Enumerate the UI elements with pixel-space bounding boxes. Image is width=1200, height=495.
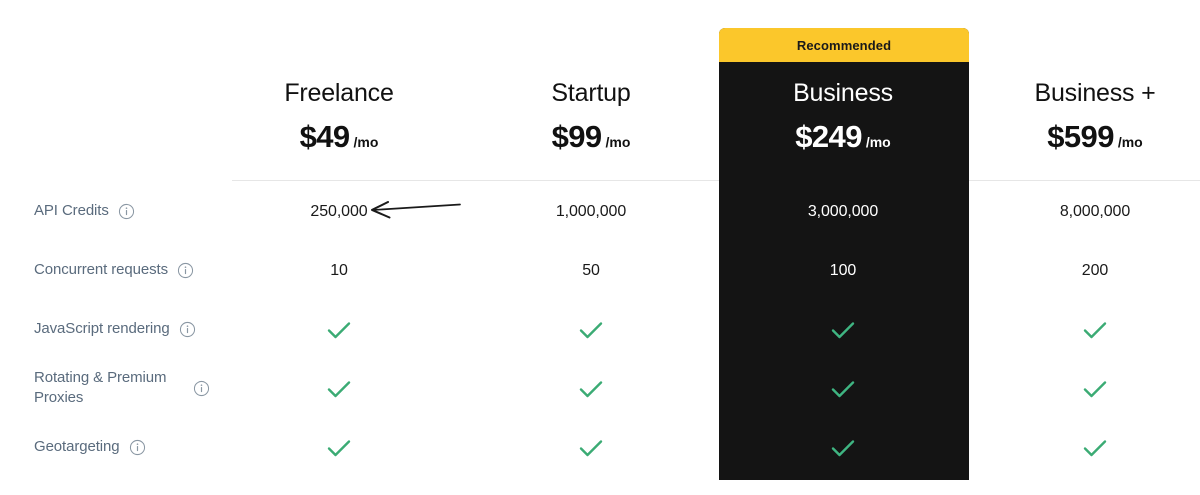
table-cell [728,319,958,346]
table-cell: 3,000,000 [728,201,958,223]
plan-name: Business + [980,78,1200,108]
plan-name: Startup [476,78,706,108]
cell-value: 3,000,000 [808,203,878,220]
cell-value: 10 [330,262,348,279]
check-icon [1081,437,1109,459]
table-cell: 1,000,000 [476,201,706,223]
cell-value: 1,000,000 [556,203,626,220]
table-cell: 10 [224,260,454,282]
check-icon [577,437,605,459]
recommended-badge: Recommended [719,28,969,62]
cell-value: 100 [830,262,856,279]
cell-value: 200 [1082,262,1108,279]
table-cell: 200 [980,260,1200,282]
plan-price: $249 [795,119,862,154]
check-icon [577,378,605,400]
plan-header-startup[interactable]: Startup $99/mo [476,78,706,160]
check-icon [577,319,605,341]
plan-price: $99 [552,119,602,154]
feature-label-rotating-premium-proxies: Rotating & Premium Proxies [34,368,244,408]
feature-label-text: JavaScript rendering [34,319,170,339]
feature-label-text: Concurrent requests [34,260,168,280]
info-icon[interactable] [193,380,210,397]
plan-price-line: $599/mo [980,120,1200,160]
recommended-badge-label: Recommended [797,38,891,53]
cell-value: 250,000 [310,203,367,220]
table-cell [224,378,454,405]
plan-period: /mo [866,134,891,150]
table-cell [476,319,706,346]
check-icon [1081,378,1109,400]
table-cell: 50 [476,260,706,282]
table-cell: 8,000,000 [980,201,1200,223]
table-cell [980,378,1200,405]
feature-label-geotargeting: Geotargeting [34,437,234,457]
table-cell [224,437,454,464]
plan-price-line: $249/mo [728,120,958,160]
plan-period: /mo [606,134,631,150]
table-cell [728,378,958,405]
plan-price-line: $49/mo [224,120,454,160]
table-cell [980,319,1200,346]
plan-period: /mo [1118,134,1143,150]
cell-value: 50 [582,262,600,279]
table-cell [476,378,706,405]
check-icon [1081,319,1109,341]
plan-period: /mo [354,134,379,150]
check-icon [829,378,857,400]
feature-label-text: Geotargeting [34,437,120,457]
plan-price-line: $99/mo [476,120,706,160]
table-cell [476,437,706,464]
check-icon [829,319,857,341]
hand-drawn-arrow-annotation [366,196,462,224]
info-icon[interactable] [179,321,196,338]
plan-header-business[interactable]: Business $249/mo [728,78,958,160]
cell-value: 8,000,000 [1060,203,1130,220]
table-cell [728,437,958,464]
table-cell [980,437,1200,464]
feature-label-api-credits: API Credits [34,201,234,221]
plan-price: $599 [1047,119,1114,154]
feature-label-text: API Credits [34,201,109,221]
check-icon [325,319,353,341]
plan-name: Business [728,78,958,108]
plan-header-freelance[interactable]: Freelance $49/mo [224,78,454,160]
check-icon [325,437,353,459]
plan-name: Freelance [224,78,454,108]
feature-label-text: Rotating & Premium Proxies [34,368,184,408]
plan-header-business-plus[interactable]: Business + $599/mo [980,78,1200,160]
check-icon [829,437,857,459]
check-icon [325,378,353,400]
header-divider [232,180,1200,181]
pricing-comparison-page: Recommended Freelance $49/mo Startup $99… [0,0,1200,495]
info-icon[interactable] [118,203,135,220]
plan-header-row: Freelance $49/mo Startup $99/mo Business… [0,78,1200,168]
table-cell: 100 [728,260,958,282]
info-icon[interactable] [129,439,146,456]
feature-label-javascript-rendering: JavaScript rendering [34,319,234,339]
table-cell [224,319,454,346]
plan-price: $49 [300,119,350,154]
info-icon[interactable] [177,262,194,279]
feature-label-concurrent-requests: Concurrent requests [34,260,234,280]
